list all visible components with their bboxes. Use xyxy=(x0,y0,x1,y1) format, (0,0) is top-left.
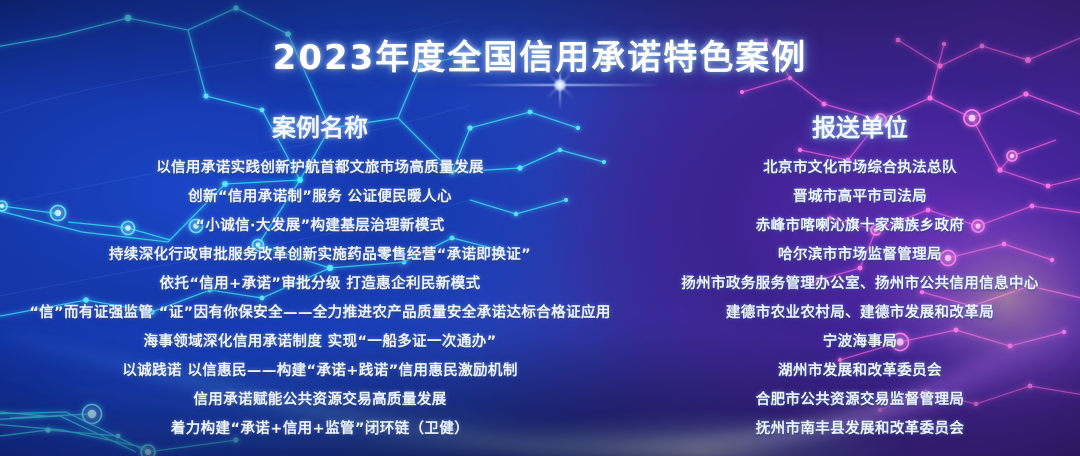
case-name-cell: 依托“信用+承诺”审批分级 打造惠企利民新模式 xyxy=(0,272,640,293)
table-row: 创新“信用承诺制”服务 公证便民暖人心晋城市高平市司法局 xyxy=(0,181,1080,210)
case-name-cell: 持续深化行政审批服务改革创新实施药品零售经营“承诺即换证” xyxy=(0,243,640,264)
table-row: “小诚信·大发展”构建基层治理新模式赤峰市喀喇沁旗十家满族乡政府 xyxy=(0,210,1080,239)
column-headers: 案例名称 报送单位 xyxy=(0,108,1080,143)
submitting-unit-cell: 晋城市高平市司法局 xyxy=(640,185,1080,206)
table-row: 以信用承诺实践创新护航首都文旅市场高质量发展北京市文化市场综合执法总队 xyxy=(0,152,1080,181)
submitting-unit-cell: 合肥市公共资源交易监督管理局 xyxy=(640,388,1080,409)
credit-commitment-banner: 2023年度全国信用承诺特色案例 案例名称 报送单位 以信用承诺实践创新护航首都… xyxy=(0,0,1080,456)
column-header-case-name: 案例名称 xyxy=(0,108,640,143)
case-name-cell: 海事领域深化信用承诺制度 实现“一船多证一次通办” xyxy=(0,330,640,351)
table-row: 海事领域深化信用承诺制度 实现“一船多证一次通办”宁波海事局 xyxy=(0,326,1080,355)
column-header-submitting-unit: 报送单位 xyxy=(640,108,1080,143)
table-row: 依托“信用+承诺”审批分级 打造惠企利民新模式扬州市政务服务管理办公室、扬州市公… xyxy=(0,268,1080,297)
submitting-unit-cell: 扬州市政务服务管理办公室、扬州市公共信用信息中心 xyxy=(640,272,1080,293)
submitting-unit-cell: 抚州市南丰县发展和改革委员会 xyxy=(640,417,1080,438)
submitting-unit-cell: 赤峰市喀喇沁旗十家满族乡政府 xyxy=(640,214,1080,235)
banner-content: 2023年度全国信用承诺特色案例 案例名称 报送单位 以信用承诺实践创新护航首都… xyxy=(0,0,1080,456)
table-row: 信用承诺赋能公共资源交易高质量发展合肥市公共资源交易监督管理局 xyxy=(0,384,1080,413)
submitting-unit-cell: 宁波海事局 xyxy=(640,330,1080,351)
submitting-unit-cell: 哈尔滨市市场监督管理局 xyxy=(640,243,1080,264)
case-name-cell: 着力构建“承诺+信用+监管”闭环链（卫健） xyxy=(0,417,640,438)
table-row: 着力构建“承诺+信用+监管”闭环链（卫健）抚州市南丰县发展和改革委员会 xyxy=(0,413,1080,442)
table-row: 持续深化行政审批服务改革创新实施药品零售经营“承诺即换证”哈尔滨市市场监督管理局 xyxy=(0,239,1080,268)
submitting-unit-cell: 湖州市发展和改革委员会 xyxy=(640,359,1080,380)
submitting-unit-cell: 北京市文化市场综合执法总队 xyxy=(640,156,1080,177)
case-name-cell: 以诚践诺 以信惠民——构建“承诺+践诺”信用惠民激励机制 xyxy=(0,359,640,380)
case-name-cell: “小诚信·大发展”构建基层治理新模式 xyxy=(0,214,640,235)
table-row: 以诚践诺 以信惠民——构建“承诺+践诺”信用惠民激励机制湖州市发展和改革委员会 xyxy=(0,355,1080,384)
case-list: 以信用承诺实践创新护航首都文旅市场高质量发展北京市文化市场综合执法总队创新“信用… xyxy=(0,152,1080,442)
case-name-cell: “信”而有证强监管 “证”因有你保安全——全力推进农产品质量安全承诺达标合格证应… xyxy=(0,301,640,322)
submitting-unit-cell: 建德市农业农村局、建德市发展和改革局 xyxy=(640,301,1080,322)
case-name-cell: 信用承诺赋能公共资源交易高质量发展 xyxy=(0,388,640,409)
table-row: “信”而有证强监管 “证”因有你保安全——全力推进农产品质量安全承诺达标合格证应… xyxy=(0,297,1080,326)
case-name-cell: 以信用承诺实践创新护航首都文旅市场高质量发展 xyxy=(0,156,640,177)
case-name-cell: 创新“信用承诺制”服务 公证便民暖人心 xyxy=(0,185,640,206)
page-title: 2023年度全国信用承诺特色案例 xyxy=(0,30,1080,79)
